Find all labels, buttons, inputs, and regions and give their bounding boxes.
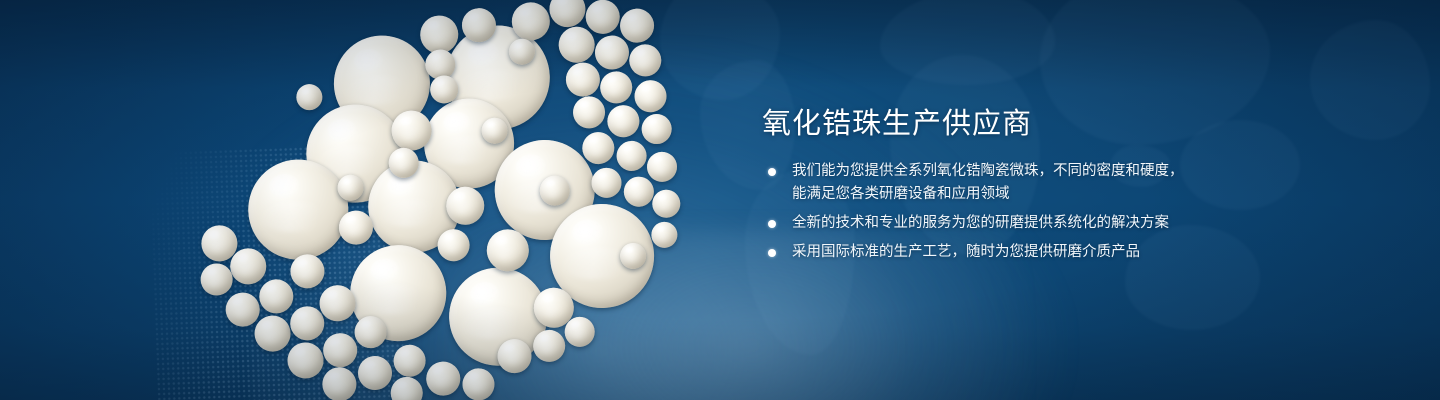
list-item: 我们能为您提供全系列氧化锆陶瓷微珠，不同的密度和硬度， 能满足您各类研磨设备和应…	[762, 160, 1302, 206]
list-item: 采用国际标准的生产工艺，随时为您提供研磨介质产品	[762, 241, 1302, 264]
banner-copy: 氧化锆珠生产供应商 我们能为您提供全系列氧化锆陶瓷微珠，不同的密度和硬度， 能满…	[762, 104, 1302, 270]
feature-list: 我们能为您提供全系列氧化锆陶瓷微珠，不同的密度和硬度， 能满足您各类研磨设备和应…	[762, 160, 1302, 264]
bullet-dot-icon	[768, 168, 776, 176]
list-item-line: 我们能为您提供全系列氧化锆陶瓷微珠，不同的密度和硬度，	[792, 160, 1302, 183]
bullet-dot-icon	[768, 249, 776, 257]
list-item-line: 能满足您各类研磨设备和应用领域	[792, 183, 1302, 206]
hero-banner: 氧化锆珠生产供应商 我们能为您提供全系列氧化锆陶瓷微珠，不同的密度和硬度， 能满…	[0, 0, 1440, 400]
list-item-line: 全新的技术和专业的服务为您的研磨提供系统化的解决方案	[792, 212, 1302, 235]
list-item-line: 采用国际标准的生产工艺，随时为您提供研磨介质产品	[792, 241, 1302, 264]
bullet-dot-icon	[768, 220, 776, 228]
list-item: 全新的技术和专业的服务为您的研磨提供系统化的解决方案	[762, 212, 1302, 235]
page-title: 氧化锆珠生产供应商	[762, 104, 1302, 144]
